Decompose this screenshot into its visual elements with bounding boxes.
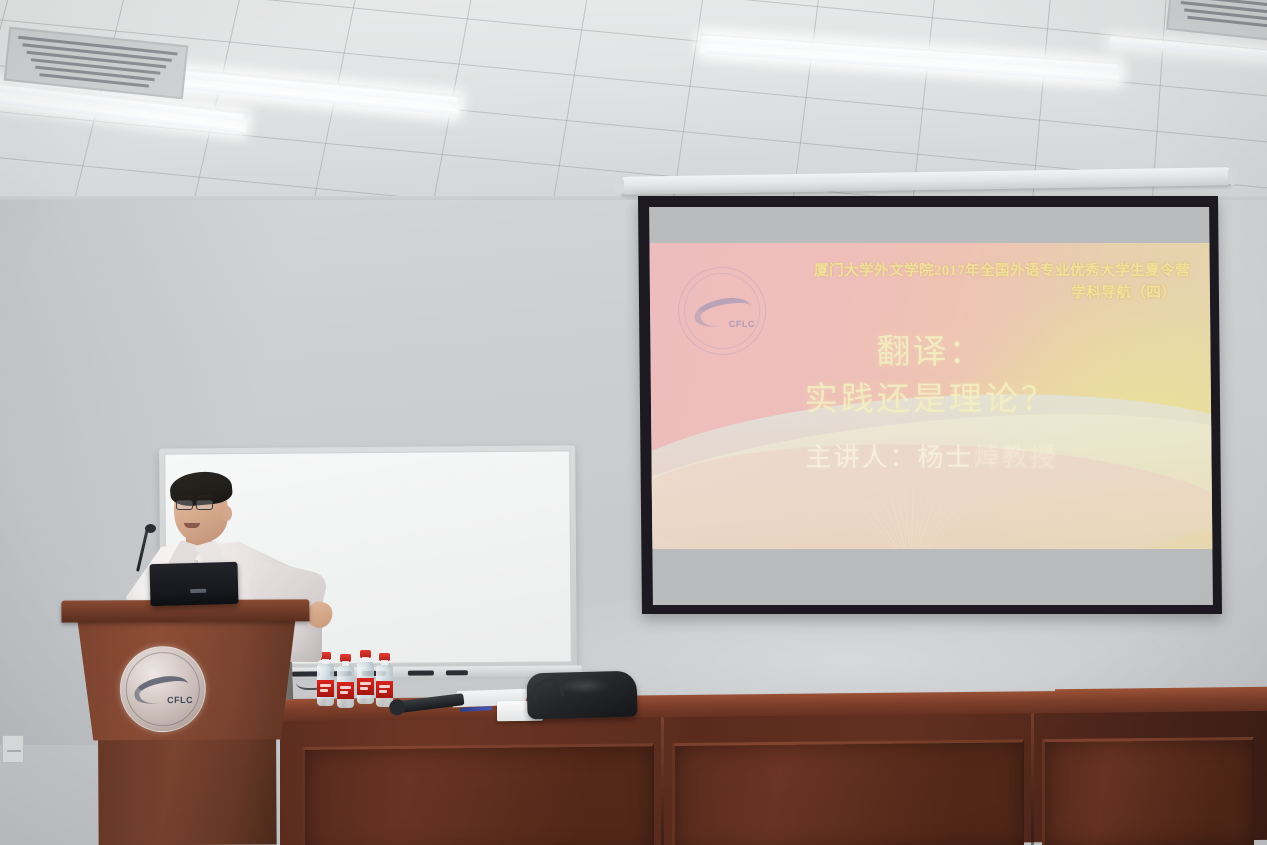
slide-presenter-line: 主讲人：杨士焯教授 [651,437,1211,474]
bag-highlight [560,678,611,695]
podium-cflc-emblem-icon: CFLC [120,646,206,732]
slide-presenter-name: 主讲人：杨士 [805,443,973,472]
presenter-mouth [184,523,200,528]
emblem-cflc-label: CFLC [729,319,755,329]
ceiling-grid-line [664,0,708,205]
bottle-label [317,680,334,697]
water-bottle [337,654,354,708]
desk-recessed-panel [302,743,654,845]
slide-header: 厦门大学外文学院2017年全国外语专业优秀大学生夏令营 学科导航（四） [683,260,1190,305]
podium-front-face: CFLC [77,619,296,740]
podium-emblem-cflc-label: CFLC [167,695,193,705]
desk-panel-seam [661,717,664,845]
bottle-label [337,682,354,699]
desk-recessed-panel [672,739,1024,845]
podium-column [98,738,277,845]
lectern-podium: CFLC [61,599,310,845]
presentation-slide: CFLC 厦门大学外文学院2017年全国外语专业优秀大学生夏令营 学科导航（四）… [649,243,1212,549]
wall-power-outlet [2,735,24,763]
bottle-label [357,678,374,695]
gooseneck-microphone-head [145,524,156,533]
slide-header-line1: 厦门大学外文学院2017年全国外语专业优秀大学生夏令营 [814,263,1190,279]
desk-recessed-panel [1042,737,1254,845]
lecture-hall-photo: CFLC 厦门大学外文学院2017年全国外语专业优秀大学生夏令营 学科导航（四）… [0,0,1267,845]
desk-panel-seam [1031,713,1034,845]
presenter-glasses-lens-left [176,500,193,510]
ceiling-grid-line [0,0,1267,61]
black-bag [526,671,637,720]
laptop [149,562,238,606]
desk-front-panel [280,711,1267,845]
presenter-glasses-lens-right [196,500,213,510]
projection-screen: CFLC 厦门大学外文学院2017年全国外语专业优秀大学生夏令营 学科导航（四）… [638,196,1222,614]
water-bottle [376,653,393,707]
ceiling-grid-line [181,0,248,205]
projection-screen-surface: CFLC 厦门大学外文学院2017年全国外语专业优秀大学生夏令营 学科导航（四）… [649,207,1213,605]
whiteboard-marker [446,670,468,675]
bottle-label [376,681,393,698]
slide-header-line2: 学科导航（四） [683,282,1190,304]
whiteboard-marker [408,670,434,675]
ceiling-grid-line [0,0,1267,107]
audience-desk [280,694,1267,845]
presenter-eyebrow [178,495,193,498]
laptop-logo [191,589,207,593]
slide-title: 翻译： 实践还是理论？ [650,329,1211,424]
slide-title-line1: 翻译： [876,334,984,371]
slide-presenter-title-faded: 焯教授 [973,443,1057,472]
presenter-eyebrow [198,495,213,498]
slide-title-line2: 实践还是理论？ [651,377,1211,424]
presenter-ear [222,506,232,521]
water-bottle [357,650,374,704]
